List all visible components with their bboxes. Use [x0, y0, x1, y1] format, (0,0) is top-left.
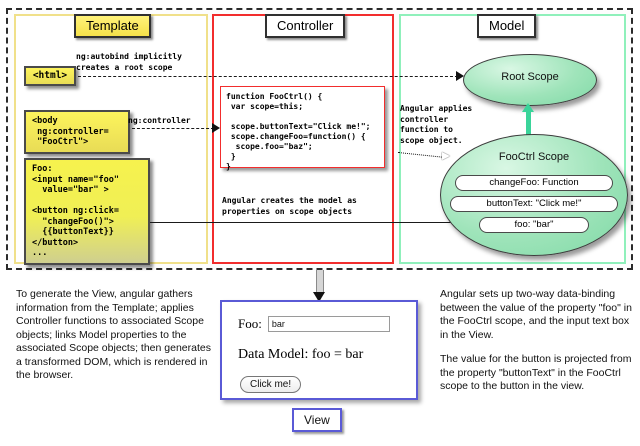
diagram-canvas: Template Controller Model <html> <body n… [0, 0, 640, 446]
panel-title-view: View [292, 408, 342, 432]
view-foo-label: Foo: [238, 316, 262, 332]
panel-title-template: Template [74, 14, 151, 38]
annotation-ng-autobind: ng:autobind implicitly creates a root sc… [76, 52, 182, 73]
template-markup-box: Foo: <input name="foo" value="bar" > <bu… [24, 158, 150, 265]
fooctrl-scope-label: FooCtrl Scope [441, 151, 627, 163]
root-scope-ellipse: Root Scope [463, 54, 597, 106]
body-tag-box: <body ng:controller= "FooCtrl"> [24, 110, 130, 154]
panel-title-model: Model [477, 14, 536, 38]
dom-generation-arrow-stem [316, 270, 324, 294]
fooctrl-scope-ellipse: FooCtrl Scope changeFoo: Function button… [440, 134, 628, 256]
annotation-ng-controller: ng:controller [128, 116, 191, 127]
panel-title-controller: Controller [265, 14, 345, 38]
view-preview-box: Foo: Data Model: foo = bar Click me! [220, 300, 418, 400]
explanation-left: To generate the View, angular gathers in… [16, 288, 216, 383]
controller-code-box: function FooCtrl() { var scope=this; sco… [220, 86, 385, 168]
scope-property-changefoo: changeFoo: Function [455, 175, 613, 191]
root-scope-label: Root Scope [464, 71, 596, 83]
explanation-right-paragraph-1: Angular sets up two-way data-binding bet… [440, 288, 632, 342]
view-click-me-button[interactable]: Click me! [240, 376, 301, 393]
scope-inheritance-arrow-head [522, 103, 534, 112]
html-tag-box: <html> [24, 66, 76, 86]
annotation-applies-controller: Angular applies controller function to s… [400, 104, 472, 146]
arrowhead-controller [212, 123, 220, 133]
connector-autobind-to-root-scope [78, 76, 458, 77]
connector-template-to-foo-property [150, 222, 499, 223]
explanation-right-paragraph-2: The value for the button is projected fr… [440, 353, 632, 394]
annotation-creates-model: Angular creates the model as properties … [222, 196, 357, 217]
view-foo-input[interactable] [268, 316, 390, 332]
explanation-right: Angular sets up two-way data-binding bet… [440, 288, 632, 405]
scope-property-foo: foo: "bar" [479, 217, 589, 233]
connector-body-to-controller [132, 128, 214, 129]
scope-property-buttontext: buttonText: "Click me!" [450, 196, 618, 212]
view-data-model-text: Data Model: foo = bar [238, 347, 363, 363]
view-foo-row: Foo: [238, 316, 390, 332]
